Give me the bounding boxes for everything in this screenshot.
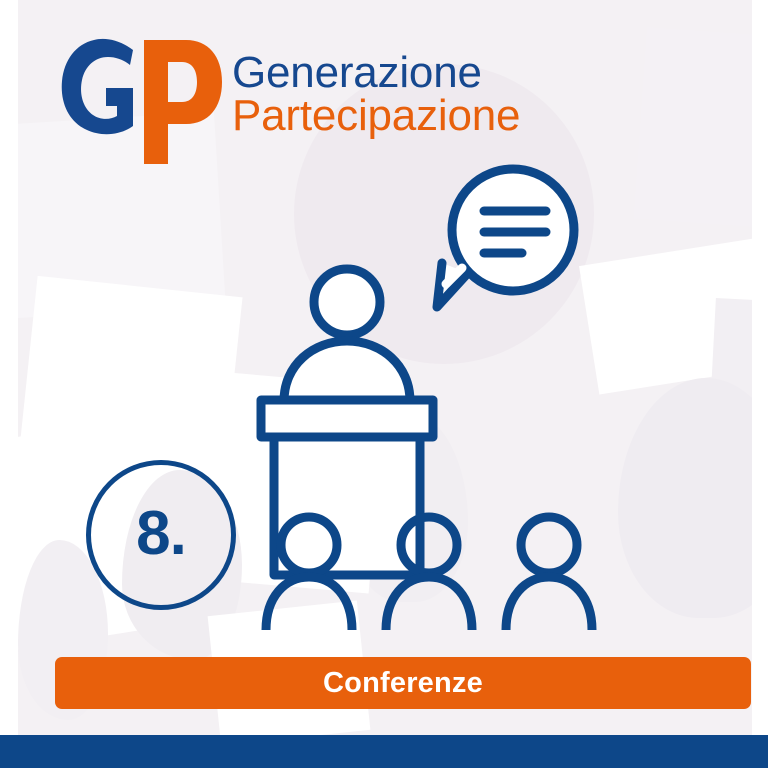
badge-number: 8. [86, 460, 236, 610]
background-placard [633, 27, 752, 229]
conference-illustration [256, 160, 616, 630]
speech-bubble-icon [437, 169, 574, 307]
brand-name-line-1: Generazione [232, 52, 520, 95]
card-panel: Generazione Partecipazione [18, 0, 752, 735]
footer-bar [0, 735, 768, 768]
conference-card: Generazione Partecipazione [0, 0, 768, 768]
brand-name-line-2: Partecipazione [232, 95, 520, 138]
brand-logo: Generazione Partecipazione [58, 36, 520, 168]
brand-wordmark: Generazione Partecipazione [232, 52, 520, 137]
gp-monogram-icon [58, 36, 228, 168]
step-number-badge: 8. [86, 460, 236, 610]
category-banner-label: Conferenze [323, 667, 483, 700]
background-silhouette [618, 378, 752, 618]
category-banner[interactable]: Conferenze [55, 657, 751, 709]
